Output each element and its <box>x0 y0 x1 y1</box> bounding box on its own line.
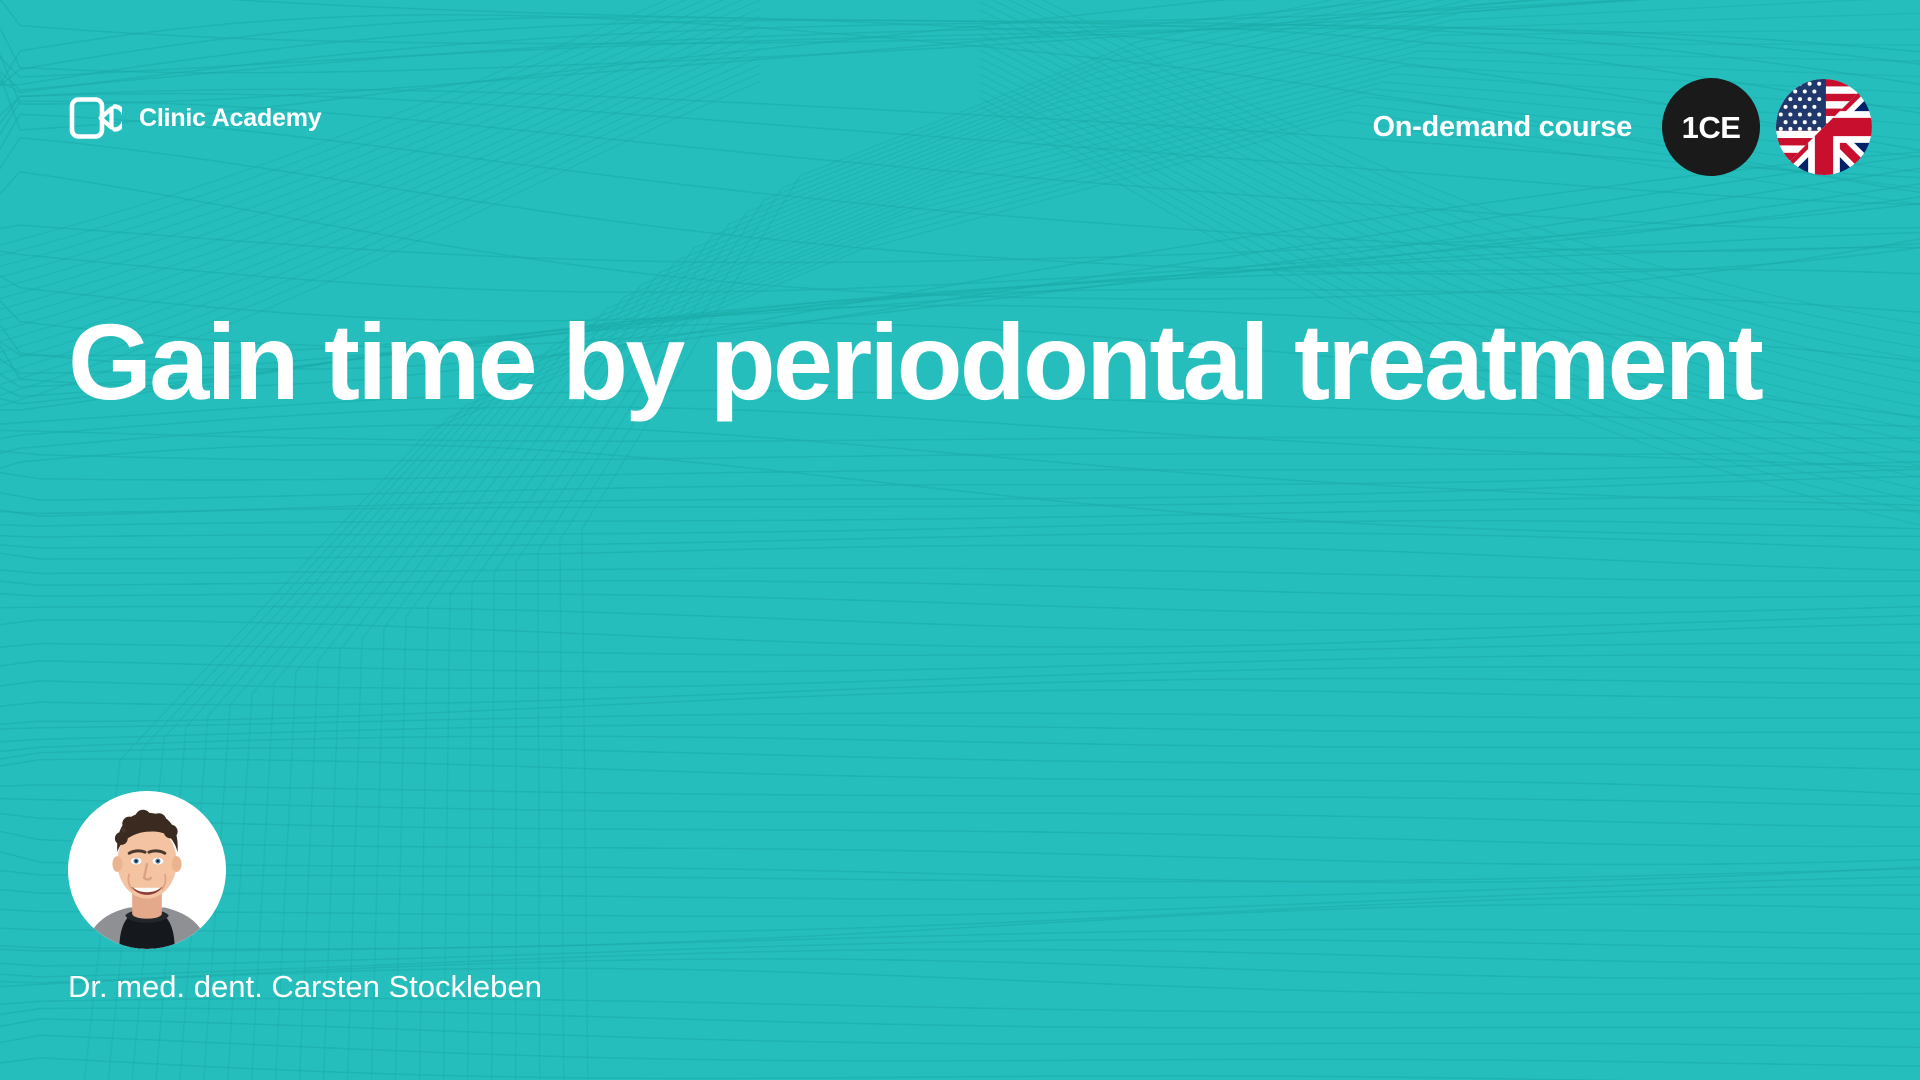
us-uk-flag-icon <box>1776 79 1872 175</box>
presenter-portrait <box>68 791 226 949</box>
ce-credit-badge: 1CE <box>1662 78 1760 176</box>
ce-credit-label: 1CE <box>1682 112 1741 143</box>
video-camera-icon <box>68 95 122 141</box>
brand-logo[interactable]: Clinic Academy <box>68 95 321 141</box>
slide-header: Clinic Academy On-demand course 1CE <box>0 0 1920 200</box>
presenter-block: Dr. med. dent. Carsten Stockleben <box>68 791 542 1002</box>
course-type-label: On-demand course <box>1373 113 1632 142</box>
brand-name-label: Clinic Academy <box>139 106 321 131</box>
presenter-name-label: Dr. med. dent. Carsten Stockleben <box>68 971 542 1002</box>
header-right-group: On-demand course 1CE <box>1373 78 1872 176</box>
course-title-slide: Clinic Academy On-demand course 1CE <box>0 0 1920 1080</box>
slide-title: Gain time by periodontal treatment <box>68 305 1878 419</box>
